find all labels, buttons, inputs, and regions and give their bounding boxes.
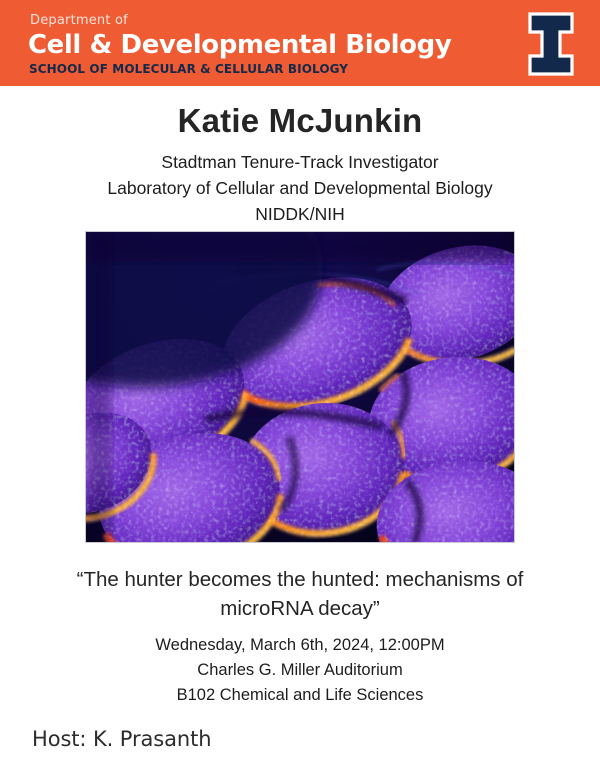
microscopy-image — [86, 232, 514, 543]
event-datetime: Wednesday, March 6th, 2024, 12:00PM — [0, 636, 600, 655]
block-i-icon — [526, 12, 576, 76]
department-prefix-label: Department of — [30, 13, 128, 28]
speaker-institution: NIDDK/NIH — [0, 204, 600, 225]
microscopy-figure — [85, 231, 515, 543]
speaker-name: Katie McJunkin — [0, 102, 600, 140]
department-banner: Department of Cell & Developmental Biolo… — [0, 0, 600, 86]
speaker-title: Stadtman Tenure-Track Investigator — [0, 152, 600, 173]
department-name-label: Cell & Developmental Biology — [28, 30, 451, 60]
talk-title: “The hunter becomes the hunted: mechanis… — [45, 565, 555, 623]
event-building: B102 Chemical and Life Sciences — [0, 686, 600, 705]
host-label: Host: K. Prasanth — [32, 727, 211, 751]
illinois-block-i-logo — [526, 12, 576, 76]
event-venue: Charles G. Miller Auditorium — [0, 661, 600, 680]
speaker-lab: Laboratory of Cellular and Developmental… — [0, 178, 600, 199]
seminar-poster: Department of Cell & Developmental Biolo… — [0, 0, 600, 777]
school-name-label: SCHOOL OF MOLECULAR & CELLULAR BIOLOGY — [29, 62, 348, 76]
